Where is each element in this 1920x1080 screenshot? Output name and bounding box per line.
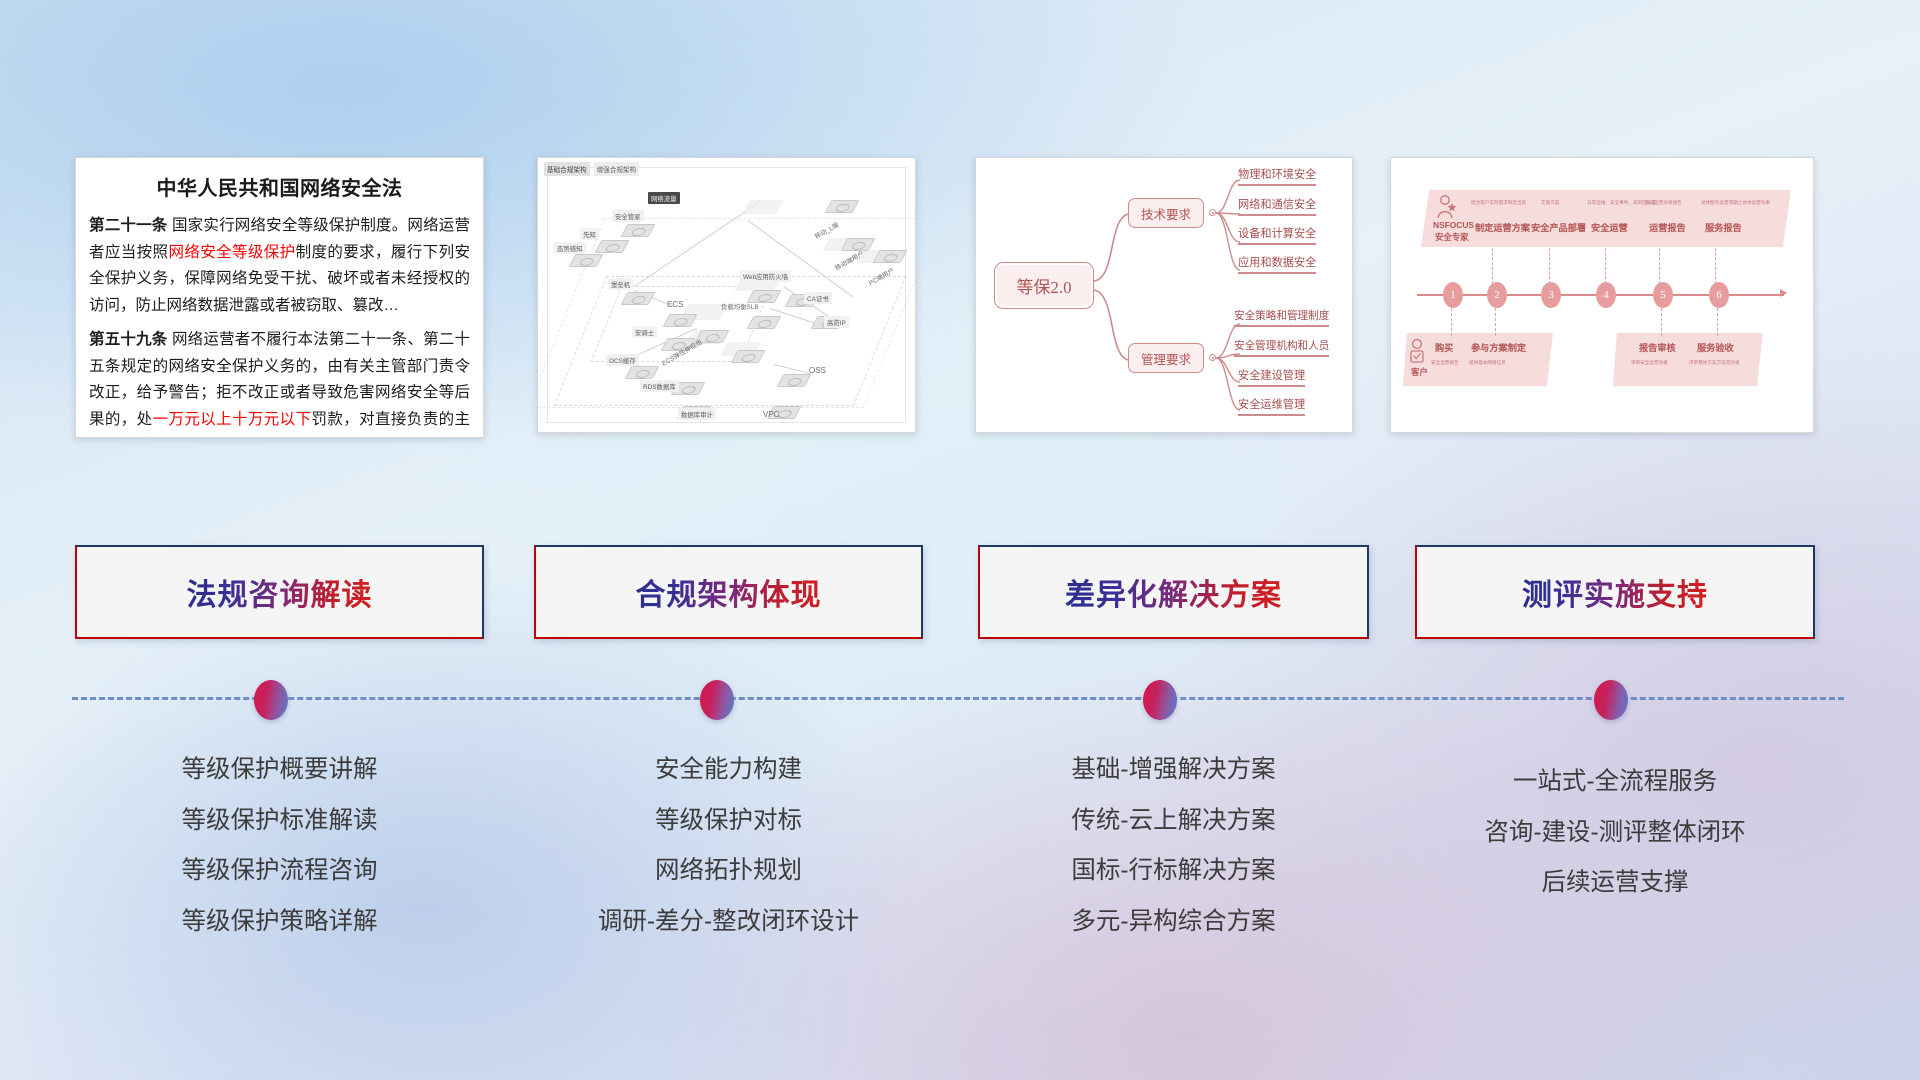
list-item: 一站式-全流程服务 [1415,757,1815,808]
nsfocus-expert-band [1421,190,1791,247]
nsfocus-top-sub: 结合客户实际需求制定出具 [1471,200,1526,206]
mindmap-branch-technical: 技术要求 [1128,198,1204,228]
law-run-highlight: 网络安全等级保护 [168,244,295,261]
nsfocus-bottom-sub: 提供基本网络信息 [1469,360,1506,366]
mindmap-root: 等保2.0 [994,262,1094,309]
nsfocus-top-sub: 阶段运营效果报告 [1645,200,1682,206]
mindmap-branch-management: 管理要求 [1128,343,1204,373]
list-item: 调研-差分-整改闭环设计 [534,897,923,948]
list-item: 等级保护概要讲解 [75,745,484,796]
architecture-tabs[interactable]: 基础合规架构 增强合规架构 [544,162,639,176]
architecture-label-ca-certificate: CA证书 [804,292,832,304]
mindmap-leaf: 安全策略和管理制度 [1234,308,1329,327]
nsfocus-brand-label: NSFOCUS [1433,220,1474,230]
architecture-label-network-traffic: 网络流量 [648,192,680,204]
architecture-label-slb: 负载均衡SLB [718,300,762,312]
nsfocus-step-6: 6 [1709,282,1729,308]
detail-column-3: 基础-增强解决方案 传统-云上解决方案 国标-行标解决方案 多元-异构综合方案 [978,745,1369,947]
architecture-label-ecs: ECS [664,298,686,310]
list-item: 多元-异构综合方案 [978,897,1369,948]
law-article-number: 第五十九条 [89,331,167,348]
nsfocus-connector [1715,248,1716,284]
list-item: 国标-行标解决方案 [978,846,1369,897]
detail-list-row: 等级保护概要讲解 等级保护标准解读 等级保护流程咨询 等级保护策略详解 安全能力… [0,745,1920,975]
mindmap-leaf: 物理和环境安全 [1238,166,1316,186]
nsfocus-step-2: 2 [1487,282,1507,308]
nsfocus-top-title: 制定运营方案 [1475,220,1530,234]
nsfocus-timeline-diagram: NSFOCUS 安全专家 客户 1 2 3 4 5 6 [1391,158,1813,432]
timeline-dot-1[interactable] [254,680,288,720]
thumbnail-card-row: 中华人民共和国网络安全法 第二十一条 国家实行网络安全等级保护制度。网络运营者应… [0,150,1920,440]
architecture-diagram: 基础合规架构 增强合规架构 [538,158,915,432]
headline-box-compliance-architecture[interactable]: 合规架构体现 [534,545,923,639]
nsfocus-top-title: 运营报告 [1649,220,1686,234]
architecture-label-anti-ddos-ip: 高防IP [824,316,849,328]
headline-label: 差异化解决方案 [1065,570,1282,614]
headline-label: 测评实施支持 [1522,570,1708,614]
architecture-node-icon [598,234,628,256]
nsfocus-connector [1451,308,1452,336]
architecture-label-vpc: VPC [760,408,782,420]
nsfocus-connector [1495,308,1496,336]
law-run: 罚款。 [306,437,353,438]
list-item: 咨询-建设-测评整体闭环 [1415,808,1815,859]
card-mindmap-dengbao[interactable]: 等保2.0 技术要求 管理要求 物理和环境安全 网络和通信安全 设备和计算安全 … [975,157,1353,433]
nsfocus-top-sub: 总体服务运营周期之总体运营效果 [1701,200,1770,206]
tab-basic-architecture[interactable]: 基础合规架构 [544,162,590,176]
mindmap-leaf: 设备和计算安全 [1238,225,1316,245]
headline-box-regulation-consulting[interactable]: 法规咨询解读 [75,545,484,639]
law-paragraph-21: 第二十一条 国家实行网络安全等级保护制度。网络运营者应当按照网络安全等级保护制度… [76,213,483,319]
mindmap-diagram: 等保2.0 技术要求 管理要求 物理和环境安全 网络和通信安全 设备和计算安全 … [976,158,1352,432]
headline-label: 合规架构体现 [636,570,822,614]
list-item: 等级保护对标 [534,796,923,847]
expert-person-icon [1435,194,1459,220]
nsfocus-bottom-sub: 安全运营报告 [1431,360,1459,366]
law-run-highlight: 一万元以上十万元以下 [153,411,312,428]
timeline [0,655,1920,745]
detail-column-1: 等级保护概要讲解 等级保护标准解读 等级保护流程咨询 等级保护策略详解 [75,745,484,947]
tab-enhanced-architecture[interactable]: 增强合规架构 [594,162,640,176]
law-title: 中华人民共和国网络安全法 [76,172,483,201]
law-article-number: 第二十一条 [89,217,167,234]
nsfocus-step-3: 3 [1541,282,1561,308]
headline-label: 法规咨询解读 [187,570,373,614]
mindmap-leaf: 安全建设管理 [1238,367,1305,387]
card-cybersecurity-law[interactable]: 中华人民共和国网络安全法 第二十一条 国家实行网络安全等级保护制度。网络运营者应… [75,157,484,438]
nsfocus-step-1: 1 [1443,282,1463,308]
law-paragraph-59: 第五十九条 网络运营者不履行本法第二十一条、第二十五条规定的网络安全保护义务的，… [76,327,483,438]
nsfocus-bottom-title: 报告审核 [1639,340,1676,354]
headline-box-differentiated-solution[interactable]: 差异化解决方案 [978,545,1369,639]
card-compliance-architecture[interactable]: 基础合规架构 增强合规架构 [537,157,916,433]
mindmap-leaf: 安全管理机构和人员 [1234,338,1329,357]
nsfocus-step-4: 4 [1596,282,1616,308]
nsfocus-bottom-sub: 评审整体方案方案完效果 [1689,360,1740,366]
mindmap-leaf: 网络和通信安全 [1238,196,1316,216]
list-item: 基础-增强解决方案 [978,745,1369,796]
list-item: 网络拓扑规划 [534,846,923,897]
nsfocus-top-title: 安全运营 [1591,220,1628,234]
architecture-node-icon [828,194,858,216]
architecture-label-situational-awareness: 态势感知 [554,242,586,254]
nsfocus-bottom-sub: 评审安全运营效果 [1631,360,1668,366]
timeline-dot-2[interactable] [700,680,734,720]
mindmap-leaf: 安全运维管理 [1238,396,1305,416]
nsfocus-bottom-title: 购买 [1435,340,1453,354]
list-item: 等级保护策略详解 [75,897,484,948]
nsfocus-axis-arrow-icon [1780,289,1787,297]
nsfocus-top-sub: 实施方案 [1541,200,1559,206]
detail-column-2: 安全能力构建 等级保护对标 网络拓扑规划 调研-差分-整改闭环设计 [534,745,923,947]
timeline-dot-3[interactable] [1143,680,1177,720]
nsfocus-bottom-title: 参与方案制定 [1471,340,1526,354]
detail-column-4: 一站式-全流程服务 咨询-建设-测评整体闭环 后续运营支撑 [1415,757,1815,909]
nsfocus-connector [1661,308,1662,336]
nsfocus-customer-label: 客户 [1411,366,1428,378]
nsfocus-bottom-title: 服务验收 [1697,340,1734,354]
list-item: 等级保护流程咨询 [75,846,484,897]
architecture-label-security-butler: 安全管家 [612,210,644,222]
architecture-node-icon [734,344,764,366]
mindmap-collapse-icon[interactable] [1209,209,1216,216]
architecture-label-ocs-cache: OCS缓存 [606,354,639,366]
architecture-node-icon [750,310,780,332]
nsfocus-connector [1717,308,1718,336]
nsfocus-top-title: 安全产品部署 [1531,220,1586,234]
nsfocus-top-title: 服务报告 [1705,220,1742,234]
mindmap-leaf: 应用和数据安全 [1238,254,1316,274]
architecture-label-anqishi: 安骑士 [632,326,657,338]
nsfocus-expert-label: 安全专家 [1435,231,1469,243]
mindmap-collapse-icon[interactable] [1209,354,1216,361]
list-item: 等级保护标准解读 [75,796,484,847]
architecture-label-web-application-firewall: Web应用防火墙 [740,270,791,282]
architecture-label-database-audit: 数据库审计 [678,408,716,420]
card-nsfocus-service-timeline[interactable]: NSFOCUS 安全专家 客户 1 2 3 4 5 6 [1390,157,1814,433]
architecture-label-oss: OSS [806,364,829,376]
law-run-highlight: 五千元以上五万元以下 [151,437,306,438]
list-item: 传统-云上解决方案 [978,796,1369,847]
list-item: 后续运营支撑 [1415,858,1815,909]
nsfocus-step-5: 5 [1653,282,1673,308]
nsfocus-connector [1492,248,1493,284]
architecture-label-xianzhi: 先知 [580,228,599,240]
architecture-label-rds-database: RDS数据库 [640,380,679,392]
nsfocus-connector [1659,248,1660,284]
timeline-dot-4[interactable] [1594,680,1628,720]
architecture-node-icon [666,308,696,330]
customer-person-icon [1407,338,1429,366]
headline-box-row: 法规咨询解读 合规架构体现 差异化解决方案 测评实施支持 [0,545,1920,645]
nsfocus-connector [1605,248,1606,284]
headline-box-assessment-support[interactable]: 测评实施支持 [1415,545,1815,639]
list-item: 安全能力构建 [534,745,923,796]
timeline-dashed-line [72,697,1844,700]
architecture-label-bastion-host: 堡垒机 [608,278,633,290]
nsfocus-connector [1549,248,1550,284]
